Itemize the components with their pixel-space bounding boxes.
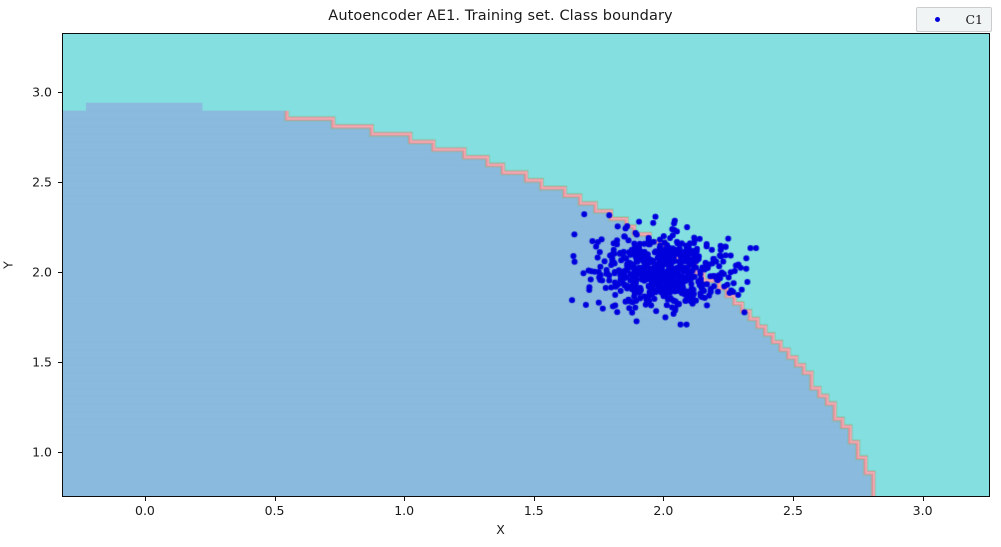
x-tick-label: 0.5 [265, 503, 285, 518]
y-tick-mark [58, 272, 62, 273]
y-tick-label: 2.5 [32, 175, 52, 190]
x-tick-label: 1.5 [524, 503, 544, 518]
x-axis-label: X [0, 522, 1001, 537]
x-tick-mark [923, 497, 924, 501]
legend-item-label: C1 [965, 12, 983, 27]
y-tick-mark [58, 92, 62, 93]
chart-title: Autoencoder AE1. Training set. Class bou… [0, 8, 1001, 24]
x-tick-mark [534, 497, 535, 501]
x-tick-mark [793, 497, 794, 501]
x-tick-label: 1.0 [394, 503, 414, 518]
x-tick-mark [663, 497, 664, 501]
y-tick-label: 1.5 [32, 355, 52, 370]
x-tick-mark [275, 497, 276, 501]
legend-marker-dot-icon [923, 17, 951, 22]
y-tick-label: 1.0 [32, 445, 52, 460]
x-tick-label: 0.0 [135, 503, 155, 518]
scatter-points-canvas [63, 34, 989, 496]
x-tick-label: 2.5 [783, 503, 803, 518]
legend-item-c1[interactable]: C1 [923, 12, 983, 27]
y-tick-label: 2.0 [32, 265, 52, 280]
x-tick-mark [404, 497, 405, 501]
y-tick-label: 3.0 [32, 85, 52, 100]
x-tick-mark [145, 497, 146, 501]
plot-area [62, 33, 990, 497]
y-tick-mark [58, 362, 62, 363]
chart-figure: Autoencoder AE1. Training set. Class bou… [0, 0, 1001, 547]
x-tick-label: 3.0 [913, 503, 933, 518]
y-tick-mark [58, 452, 62, 453]
chart-legend[interactable]: C1 [916, 7, 992, 32]
x-tick-label: 2.0 [653, 503, 673, 518]
y-tick-mark [58, 182, 62, 183]
y-axis-label: Y [1, 261, 16, 269]
